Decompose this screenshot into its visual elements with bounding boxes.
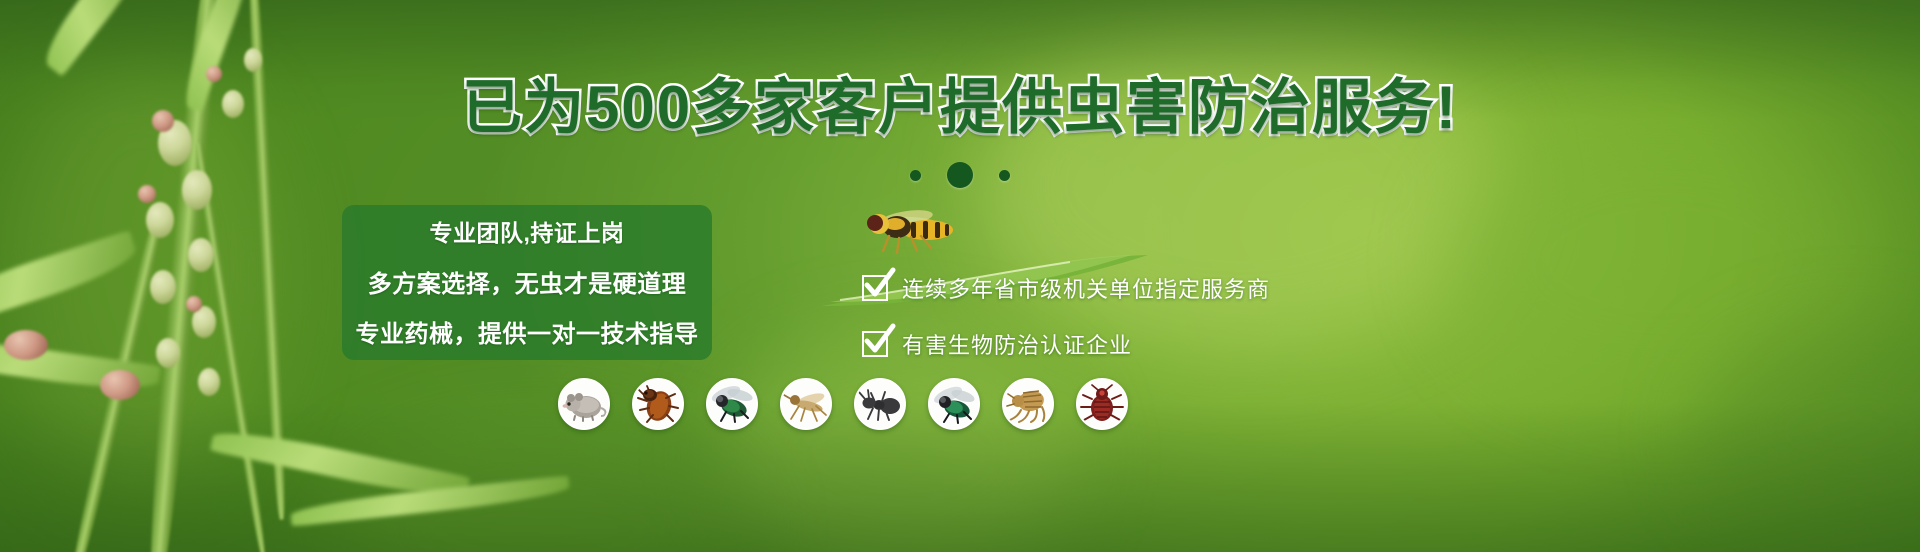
bedbug-icon[interactable] <box>1076 378 1128 430</box>
cockroach-icon[interactable] <box>632 378 684 430</box>
promo-banner: 已为500多家客户提供虫害防治服务! <box>0 0 1920 552</box>
flea-icon[interactable] <box>1002 378 1054 430</box>
pest-icon-row <box>558 378 1128 430</box>
housefly-icon[interactable] <box>706 378 758 430</box>
panel-line-2: 多方案选择，无虫才是硬道理 <box>368 264 687 299</box>
blowfly-icon[interactable] <box>928 378 980 430</box>
dot-small-right-icon <box>999 170 1010 181</box>
panel-line-3: 专业药械，提供一对一技术指导 <box>356 314 699 349</box>
bullet-label: 有害生物防治认证企业 <box>902 328 1132 360</box>
mosquito-icon[interactable] <box>780 378 832 430</box>
list-item: 连续多年省市级机关单位指定服务商 <box>862 272 1270 304</box>
bullet-label: 连续多年省市级机关单位指定服务商 <box>902 272 1270 304</box>
panel-line-1: 专业团队,持证上岗 <box>430 214 625 248</box>
decorative-dots <box>0 162 1920 188</box>
list-item: 有害生物防治认证企业 <box>862 328 1270 360</box>
dot-large-center-icon <box>947 162 973 188</box>
dot-small-left-icon <box>910 170 921 181</box>
checkbox-checked-icon <box>862 275 888 301</box>
rodent-icon[interactable] <box>558 378 610 430</box>
feature-bullet-list: 连续多年省市级机关单位指定服务商 有害生物防治认证企业 <box>862 272 1270 360</box>
selling-points-panel: 专业团队,持证上岗 多方案选择，无虫才是硬道理 专业药械，提供一对一技术指导 <box>342 205 712 360</box>
checkbox-checked-icon <box>862 331 888 357</box>
ant-icon[interactable] <box>854 378 906 430</box>
headline-text: 已为500多家客户提供虫害防治服务! <box>462 74 1458 141</box>
hoverfly-icon <box>855 205 965 260</box>
headline: 已为500多家客户提供虫害防治服务! <box>0 78 1920 138</box>
